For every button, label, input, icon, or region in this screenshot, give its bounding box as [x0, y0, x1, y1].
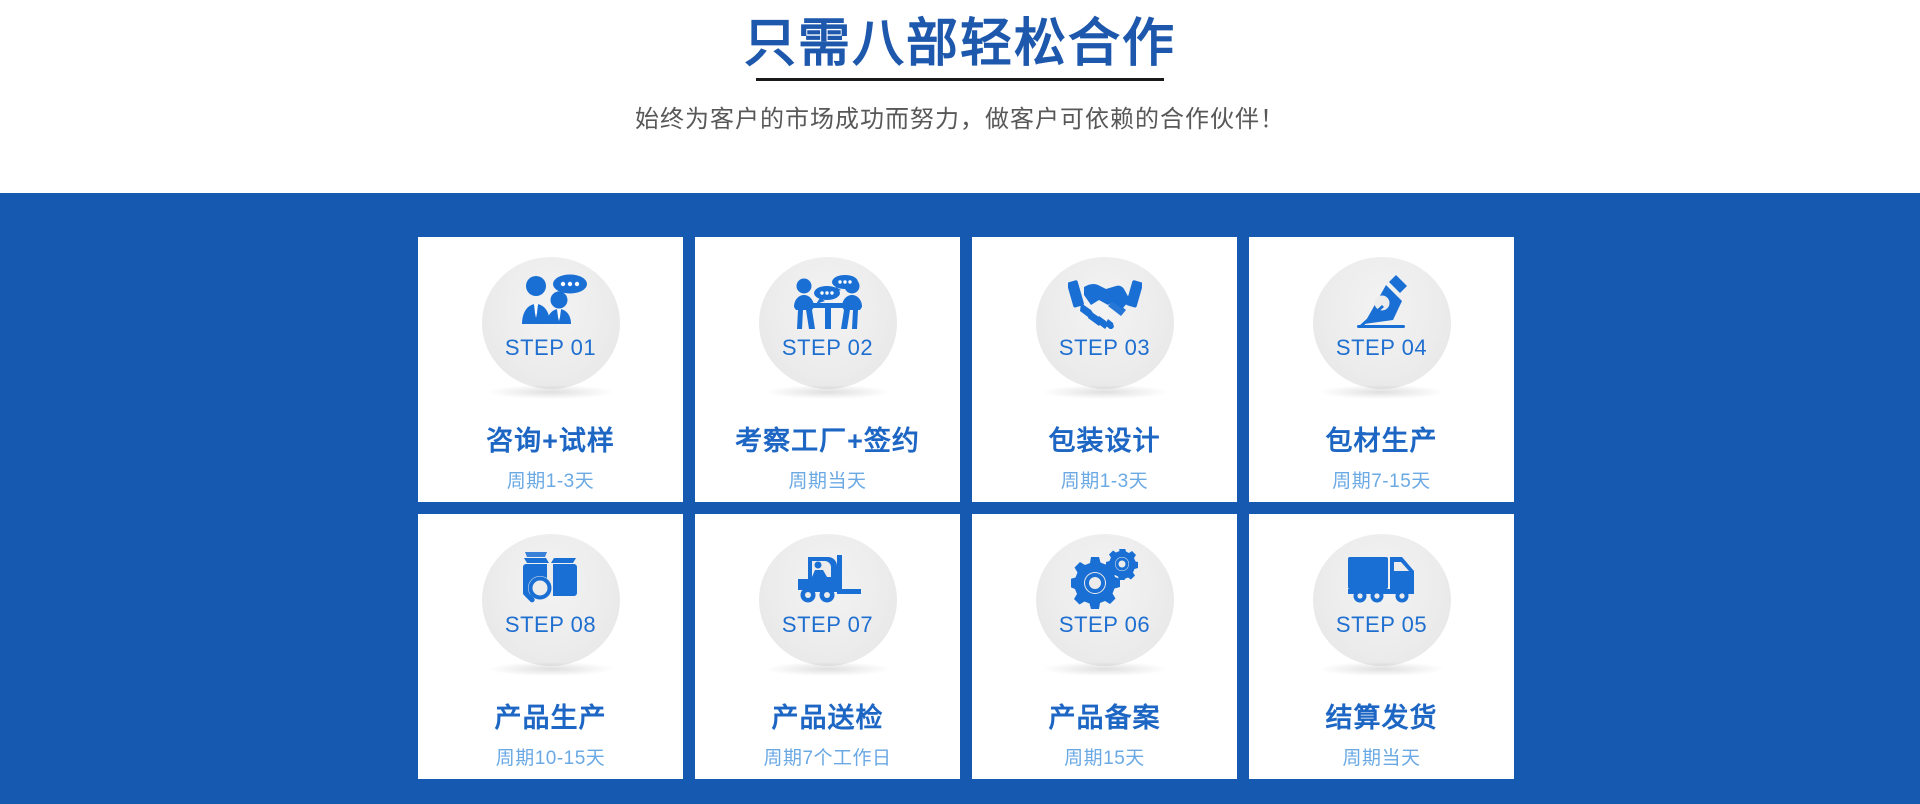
step-label: STEP 07: [782, 612, 873, 638]
process-steps-page: 只需八部轻松合作 始终为客户的市场成功而努力，做客户可依赖的合作伙伴！: [0, 0, 1920, 804]
step-badge: STEP 02: [756, 253, 900, 397]
page-header: 只需八部轻松合作 始终为客户的市场成功而努力，做客户可依赖的合作伙伴！: [0, 0, 1920, 193]
step-title: 包装设计: [1049, 419, 1161, 458]
badge-shadow: [489, 662, 613, 676]
badge-shadow: [1320, 662, 1444, 676]
step-duration: 周期当天: [1342, 743, 1420, 770]
step-title: 考察工厂+签约: [735, 419, 920, 458]
step-badge: STEP 06: [1033, 530, 1177, 674]
steps-grid: STEP 01 咨询+试样 周期1-3天: [418, 237, 1514, 779]
step-title: 包材生产: [1326, 419, 1438, 458]
steps-band: STEP 01 咨询+试样 周期1-3天: [0, 193, 1920, 804]
step-duration: 周期7个工作日: [763, 743, 891, 770]
step-label: STEP 05: [1336, 612, 1427, 638]
step-badge: STEP 07: [756, 530, 900, 674]
step-card[interactable]: STEP 06 产品备案 周期15天: [972, 514, 1237, 779]
box-magnifier-inspection-icon: [514, 548, 588, 610]
step-card[interactable]: STEP 08 产品生产 周期10-15天: [418, 514, 683, 779]
step-card[interactable]: STEP 05 结算发货 周期当天: [1249, 514, 1514, 779]
delivery-truck-icon: [1345, 548, 1419, 610]
step-title: 产品备案: [1049, 696, 1161, 735]
badge-shadow: [1043, 662, 1167, 676]
badge-shadow: [766, 662, 890, 676]
step-label: STEP 02: [782, 335, 873, 361]
step-duration: 周期7-15天: [1332, 466, 1431, 493]
handshake-icon: [1068, 271, 1142, 333]
step-label: STEP 04: [1336, 335, 1427, 361]
page-title: 只需八部轻松合作: [744, 14, 1176, 75]
step-duration: 周期1-3天: [507, 466, 594, 493]
step-badge: STEP 01: [479, 253, 623, 397]
page-title-text: 只需八部轻松合作: [744, 15, 1176, 73]
step-card[interactable]: STEP 04 包材生产 周期7-15天: [1249, 237, 1514, 502]
step-badge: STEP 05: [1310, 530, 1454, 674]
step-badge: STEP 04: [1310, 253, 1454, 397]
step-duration: 周期15天: [1064, 743, 1145, 770]
badge-shadow: [1320, 385, 1444, 399]
step-badge: STEP 03: [1033, 253, 1177, 397]
badge-shadow: [1043, 385, 1167, 399]
step-label: STEP 03: [1059, 335, 1150, 361]
fountain-pen-nib-icon: [1345, 271, 1419, 333]
badge-shadow: [489, 385, 613, 399]
step-card[interactable]: STEP 07 产品送检 周期7个工作日: [695, 514, 960, 779]
meeting-table-negotiation-icon: [791, 271, 865, 333]
step-card[interactable]: STEP 03 包装设计 周期1-3天: [972, 237, 1237, 502]
step-title: 结算发货: [1326, 696, 1438, 735]
step-card[interactable]: STEP 02 考察工厂+签约 周期当天: [695, 237, 960, 502]
step-title: 产品送检: [772, 696, 884, 735]
forklift-icon: [791, 548, 865, 610]
step-duration: 周期10-15天: [496, 743, 606, 770]
step-label: STEP 06: [1059, 612, 1150, 638]
step-label: STEP 01: [505, 335, 596, 361]
title-underline: [756, 78, 1164, 81]
two-people-speech-bubble-icon: [514, 271, 588, 333]
step-card[interactable]: STEP 01 咨询+试样 周期1-3天: [418, 237, 683, 502]
step-badge: STEP 08: [479, 530, 623, 674]
gears-icon: [1068, 548, 1142, 610]
step-title: 产品生产: [495, 696, 607, 735]
step-label: STEP 08: [505, 612, 596, 638]
step-duration: 周期1-3天: [1061, 466, 1148, 493]
page-subtitle: 始终为客户的市场成功而努力，做客户可依赖的合作伙伴！: [0, 99, 1920, 134]
step-duration: 周期当天: [788, 466, 866, 493]
badge-shadow: [766, 385, 890, 399]
step-title: 咨询+试样: [486, 419, 615, 458]
